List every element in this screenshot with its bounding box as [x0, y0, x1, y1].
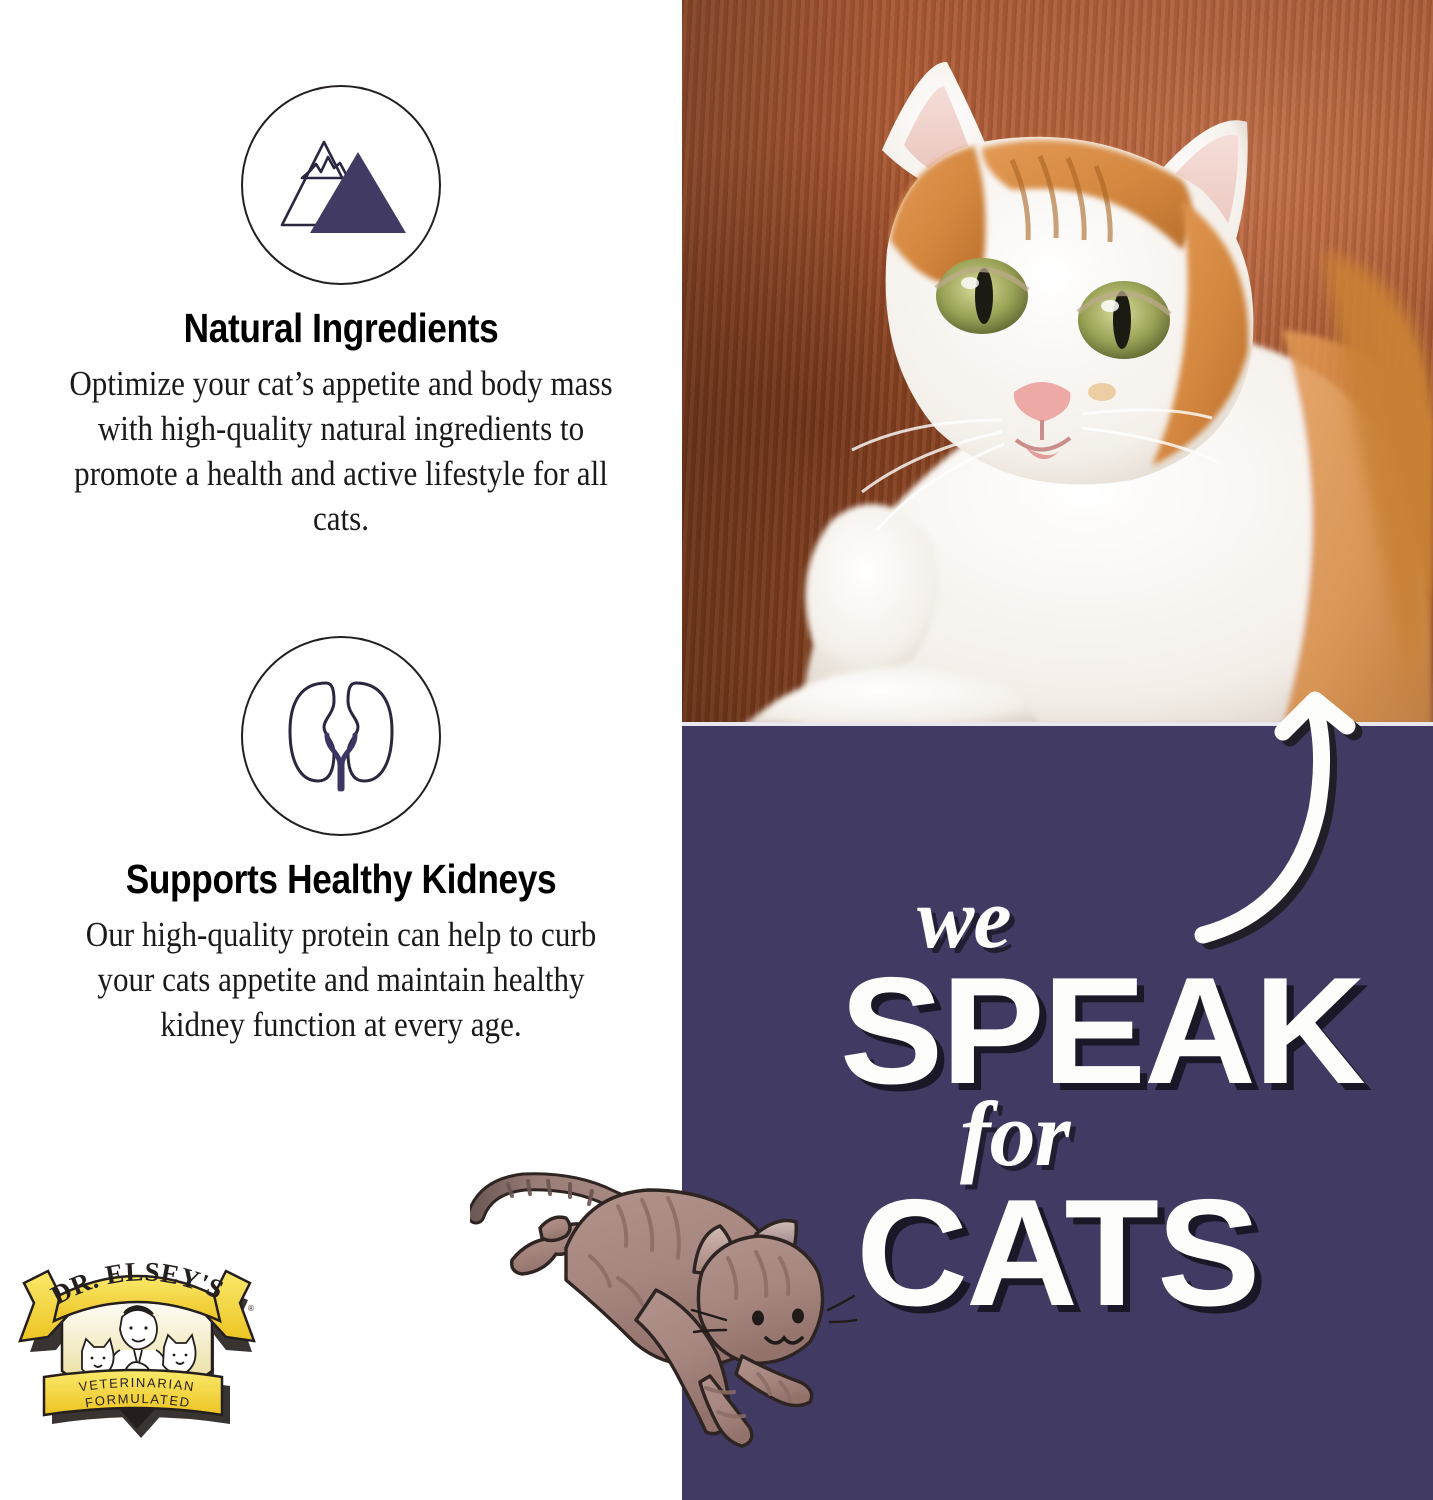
- mountain-icon: [241, 85, 441, 285]
- feature-block-healthy-kidneys: Supports Healthy Kidneys Our high-qualit…: [0, 636, 682, 1048]
- kidney-icon: [241, 636, 441, 836]
- feature-title: Supports Healthy Kidneys: [48, 856, 635, 903]
- feature-block-natural-ingredients: Natural Ingredients Optimize your cat’s …: [0, 85, 682, 541]
- feature-body: Optimize your cat’s appetite and body ma…: [53, 362, 629, 541]
- registered-mark: ®: [248, 1304, 254, 1313]
- photo-cat-subject: [682, 0, 1433, 726]
- product-feature-panel: Natural Ingredients Optimize your cat’s …: [0, 0, 1433, 1500]
- leaping-cat-illustration: [470, 1160, 860, 1450]
- feature-body: Our high-quality protein can help to cur…: [76, 913, 607, 1048]
- hero-word-cats: CATS: [856, 1166, 1258, 1341]
- brand-logo: DR. ELSEY'S ® VETERINARIAN FORMULATED: [12, 1255, 262, 1440]
- curved-up-arrow-icon: [1175, 660, 1375, 950]
- feature-title: Natural Ingredients: [48, 305, 635, 352]
- hero-word-speak: SPEAK: [840, 944, 1364, 1119]
- cat-photo: [682, 0, 1433, 726]
